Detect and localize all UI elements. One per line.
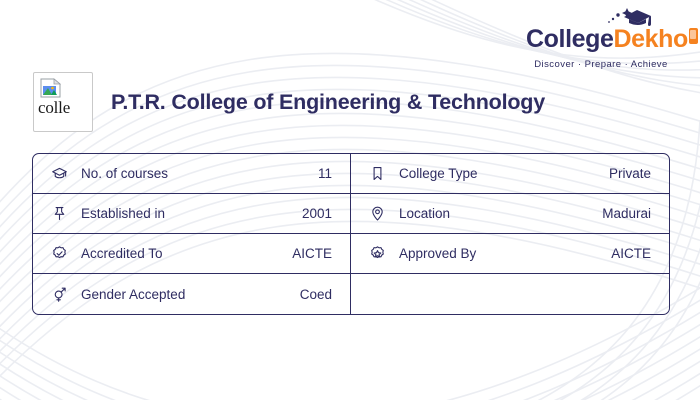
gender-icon xyxy=(49,284,69,304)
star-badge-icon xyxy=(367,244,387,264)
logo-text-dekho: Dekho xyxy=(614,25,688,53)
dotcom-badge xyxy=(689,28,698,44)
row-value: 11 xyxy=(318,166,332,181)
row-label: Approved By xyxy=(399,246,476,261)
table-row: Approved By AICTE xyxy=(351,234,669,274)
table-row: Gender Accepted Coed xyxy=(33,274,350,314)
info-column-left: No. of courses 11 Established in 2001 xyxy=(33,154,351,314)
college-header: colle P.T.R. College of Engineering & Te… xyxy=(33,72,545,132)
table-row: Accredited To AICTE xyxy=(33,234,350,274)
pushpin-icon xyxy=(49,204,69,224)
logo-wordmark: CollegeDekho xyxy=(526,22,676,56)
graduation-cap-icon xyxy=(604,6,658,28)
college-logo-thumbnail: colle xyxy=(33,72,93,132)
info-column-right: College Type Private Location Madurai xyxy=(351,154,669,314)
table-row: Location Madurai xyxy=(351,194,669,234)
row-label: Established in xyxy=(81,206,165,221)
logo-tagline: Discover · Prepare · Achieve xyxy=(526,59,676,70)
table-row-empty xyxy=(351,274,669,314)
map-pin-icon xyxy=(367,204,387,224)
table-row: Established in 2001 xyxy=(33,194,350,234)
row-value: AICTE xyxy=(611,246,651,261)
row-value: Madurai xyxy=(602,206,651,221)
check-badge-icon xyxy=(49,244,69,264)
row-label: College Type xyxy=(399,166,478,181)
row-label: Location xyxy=(399,206,450,221)
row-label: No. of courses xyxy=(81,166,168,181)
page-title: P.T.R. College of Engineering & Technolo… xyxy=(111,90,545,115)
bookmark-icon xyxy=(367,164,387,184)
row-value: AICTE xyxy=(292,246,332,261)
broken-image-icon xyxy=(40,78,62,98)
table-row: College Type Private xyxy=(351,154,669,194)
row-value: Coed xyxy=(300,287,332,302)
row-value: 2001 xyxy=(302,206,332,221)
table-row: No. of courses 11 xyxy=(33,154,350,194)
college-info-table: No. of courses 11 Established in 2001 xyxy=(32,153,670,315)
logo-text-college: College xyxy=(526,25,614,53)
graduation-cap-icon xyxy=(49,164,69,184)
row-label: Gender Accepted xyxy=(81,287,185,302)
thumbnail-alt-text: colle xyxy=(38,98,70,118)
row-value: Private xyxy=(609,166,651,181)
site-logo[interactable]: CollegeDekho Discover · Prepare · Achiev… xyxy=(526,22,676,70)
row-label: Accredited To xyxy=(81,246,163,261)
